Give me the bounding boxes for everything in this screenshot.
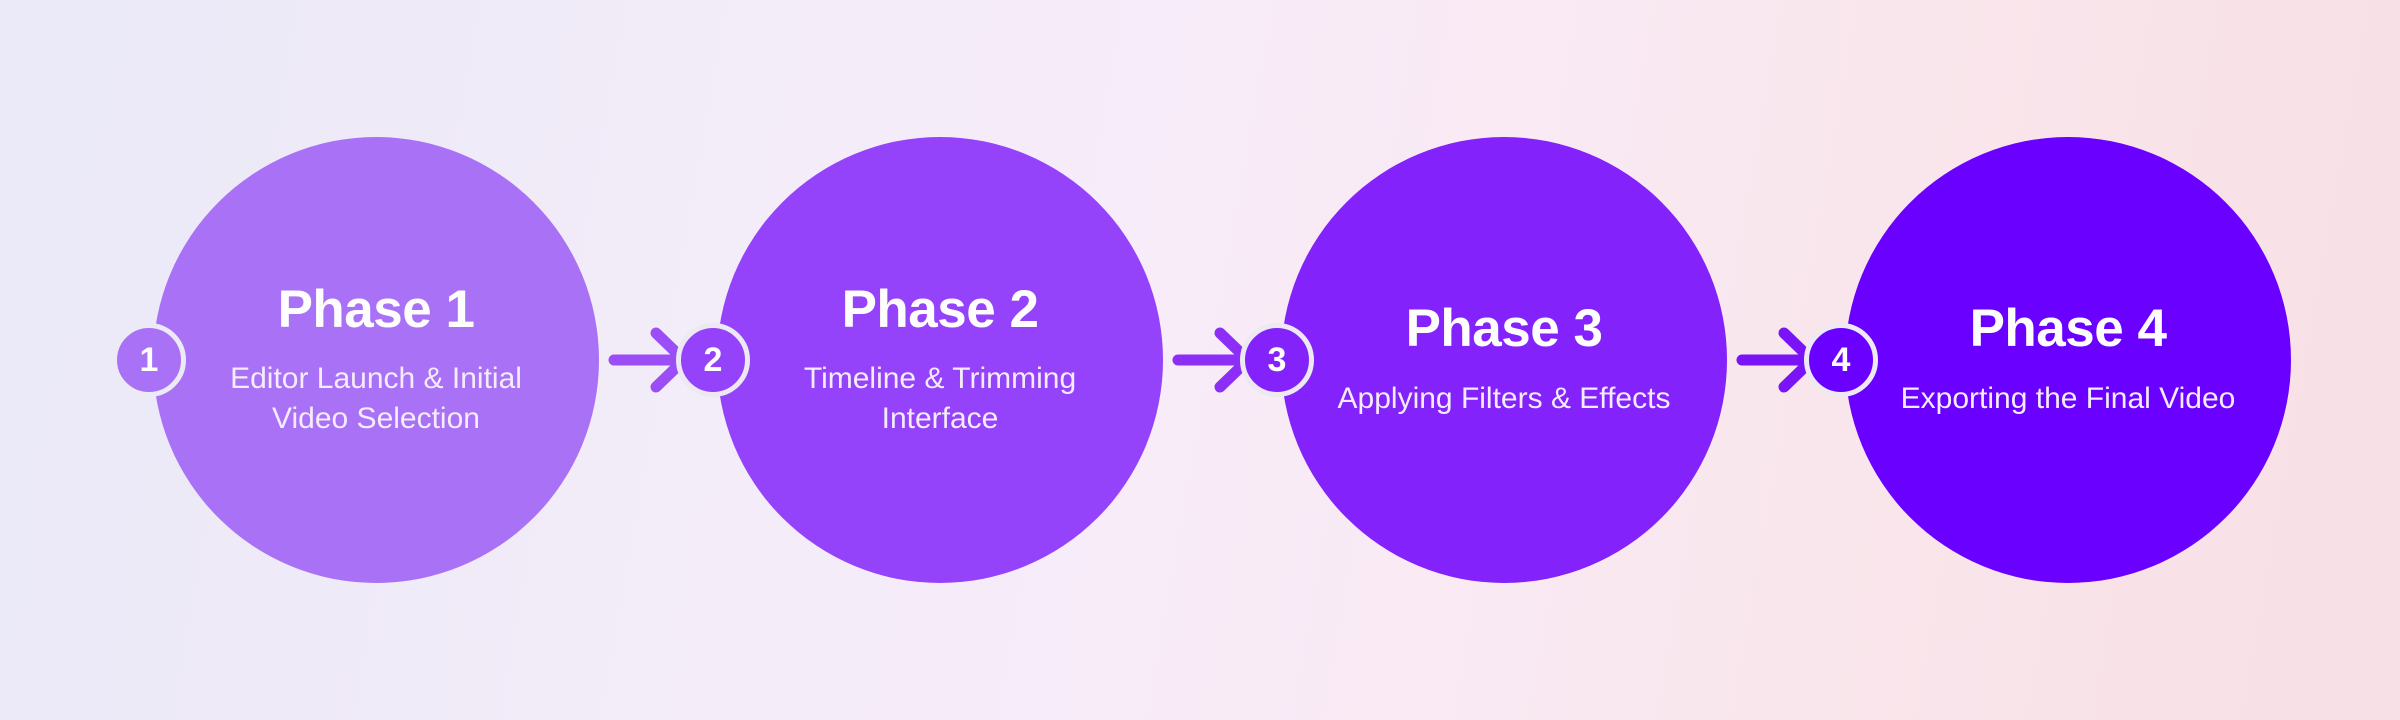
phase-bubble-1[interactable]: Phase 1 Editor Launch & Initial Video Se… (153, 137, 599, 583)
step-number-badge-1[interactable]: 1 (112, 323, 186, 397)
phase-description-4: Exporting the Final Video (1901, 379, 2236, 419)
phase-title-4: Phase 4 (1970, 301, 2167, 357)
step-number-badge-2[interactable]: 2 (676, 323, 750, 397)
flow-step-2[interactable]: Phase 2 Timeline & Trimming Interface 2 (717, 137, 1163, 583)
phase-description-2: Timeline & Trimming Interface (769, 359, 1111, 438)
step-number-badge-3[interactable]: 3 (1240, 323, 1314, 397)
right-spacer (2291, 355, 2347, 365)
process-flow-diagram: Phase 1 Editor Launch & Initial Video Se… (0, 0, 2400, 720)
flow-step-1[interactable]: Phase 1 Editor Launch & Initial Video Se… (153, 137, 599, 583)
step-number-label-3: 3 (1268, 341, 1287, 380)
phase-bubble-2[interactable]: Phase 2 Timeline & Trimming Interface (717, 137, 1163, 583)
step-number-label-2: 2 (704, 341, 723, 380)
phase-title-3: Phase 3 (1406, 301, 1603, 357)
step-number-label-4: 4 (1832, 341, 1851, 380)
step-number-label-1: 1 (140, 341, 159, 380)
phase-bubble-4[interactable]: Phase 4 Exporting the Final Video (1845, 137, 2291, 583)
phase-description-1: Editor Launch & Initial Video Selection (205, 359, 547, 438)
flow-track: Phase 1 Editor Launch & Initial Video Se… (53, 0, 2347, 720)
phase-title-1: Phase 1 (278, 282, 475, 338)
step-number-badge-4[interactable]: 4 (1804, 323, 1878, 397)
flow-step-4[interactable]: Phase 4 Exporting the Final Video 4 (1845, 137, 2291, 583)
phase-description-3: Applying Filters & Effects (1338, 379, 1671, 419)
flow-step-3[interactable]: Phase 3 Applying Filters & Effects 3 (1281, 137, 1727, 583)
phase-bubble-3[interactable]: Phase 3 Applying Filters & Effects (1281, 137, 1727, 583)
phase-title-2: Phase 2 (842, 282, 1039, 338)
